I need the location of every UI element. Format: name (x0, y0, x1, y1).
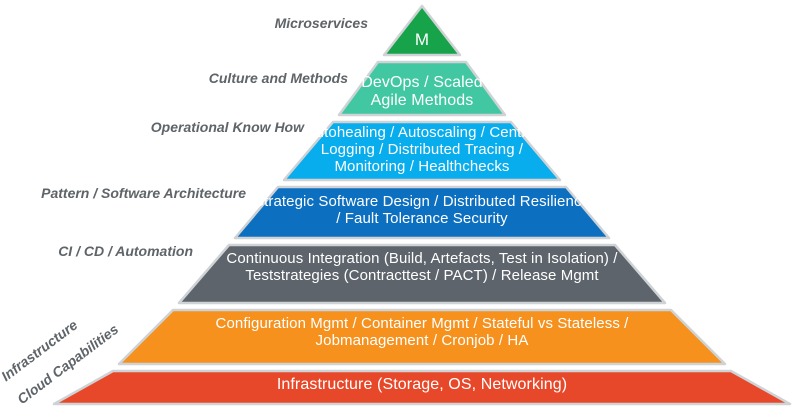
tier-label-microservices: M (384, 30, 460, 50)
side-label-operational-know-how: Operational Know How (151, 119, 304, 136)
side-label-culture-and-methods: Culture and Methods (209, 70, 348, 87)
tier-shape-infrastructure-cloud-capabilities (119, 310, 725, 364)
tier-shape-ci-cd-automation (179, 245, 665, 303)
tier-shape-operational-know-how (284, 122, 560, 180)
tier-shape-pattern-software-architecture (235, 187, 609, 238)
pyramid-diagram: M DevOps / Scaled Agile Methods Autoheal… (0, 0, 797, 410)
pyramid-shapes (0, 0, 797, 410)
side-label-pattern-software-architecture: Pattern / Software Architecture (41, 185, 246, 202)
tier-shape-infrastructure (54, 371, 790, 404)
side-label-ci-cd-automation: CI / CD / Automation (58, 243, 193, 260)
tier-shape-culture-and-methods (339, 62, 505, 115)
side-label-microservices: Microservices (275, 15, 368, 32)
